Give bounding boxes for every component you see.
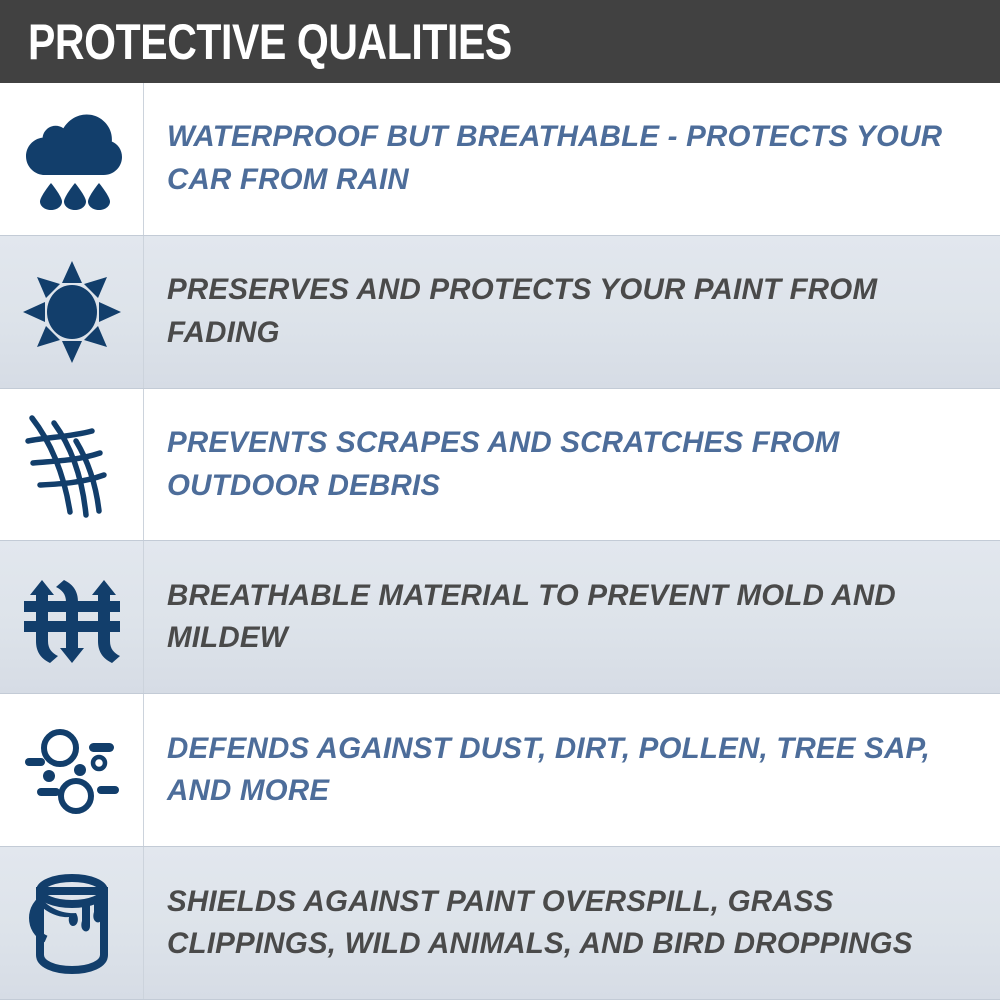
feature-text-cell: DEFENDS AGAINST DUST, DIRT, POLLEN, TREE… [143,694,1000,846]
feature-text-cell: WATERPROOF BUT BREATHABLE - PROTECTS YOU… [143,83,1000,235]
protective-qualities-infographic: PROTECTIVE QUALITIES WATERPROOF BUT BREA… [0,0,1000,1000]
feature-label: WATERPROOF BUT BREATHABLE - PROTECTS YOU… [167,116,966,201]
feature-icon-cell [0,389,143,541]
feature-row: BREATHABLE MATERIAL TO PREVENT MOLD AND … [0,540,1000,694]
feature-icon-cell [0,83,143,235]
rain-cloud-icon [20,105,124,213]
feature-text-cell: PREVENTS SCRAPES AND SCRATCHES FROM OUTD… [143,389,1000,541]
feature-row: PRESERVES AND PROTECTS YOUR PAINT FROM F… [0,235,1000,389]
feature-text-cell: BREATHABLE MATERIAL TO PREVENT MOLD AND … [143,541,1000,693]
feature-icon-cell [0,541,143,693]
feature-list: WATERPROOF BUT BREATHABLE - PROTECTS YOU… [0,83,1000,1000]
breathable-airflow-icon [20,563,124,671]
feature-label: PRESERVES AND PROTECTS YOUR PAINT FROM F… [167,269,966,354]
feature-row: WATERPROOF BUT BREATHABLE - PROTECTS YOU… [0,83,1000,235]
header-bar: PROTECTIVE QUALITIES [0,0,1000,83]
feature-label: DEFENDS AGAINST DUST, DIRT, POLLEN, TREE… [167,728,966,813]
feature-label: SHIELDS AGAINST PAINT OVERSPILL, GRASS C… [167,881,966,966]
feature-text-cell: SHIELDS AGAINST PAINT OVERSPILL, GRASS C… [143,847,1000,999]
scratch-lines-icon [20,411,124,519]
feature-text-cell: PRESERVES AND PROTECTS YOUR PAINT FROM F… [143,236,1000,388]
feature-row: SHIELDS AGAINST PAINT OVERSPILL, GRASS C… [0,846,1000,1000]
feature-row: DEFENDS AGAINST DUST, DIRT, POLLEN, TREE… [0,694,1000,846]
sun-icon [20,258,124,366]
feature-icon-cell [0,236,143,388]
feature-icon-cell [0,694,143,846]
paint-can-icon [20,869,124,977]
feature-label: BREATHABLE MATERIAL TO PREVENT MOLD AND … [167,575,966,660]
feature-row: PREVENTS SCRAPES AND SCRATCHES FROM OUTD… [0,389,1000,541]
feature-icon-cell [0,847,143,999]
feature-label: PREVENTS SCRAPES AND SCRATCHES FROM OUTD… [167,422,966,507]
dust-particles-icon [20,716,124,824]
page-title: PROTECTIVE QUALITIES [28,17,512,67]
